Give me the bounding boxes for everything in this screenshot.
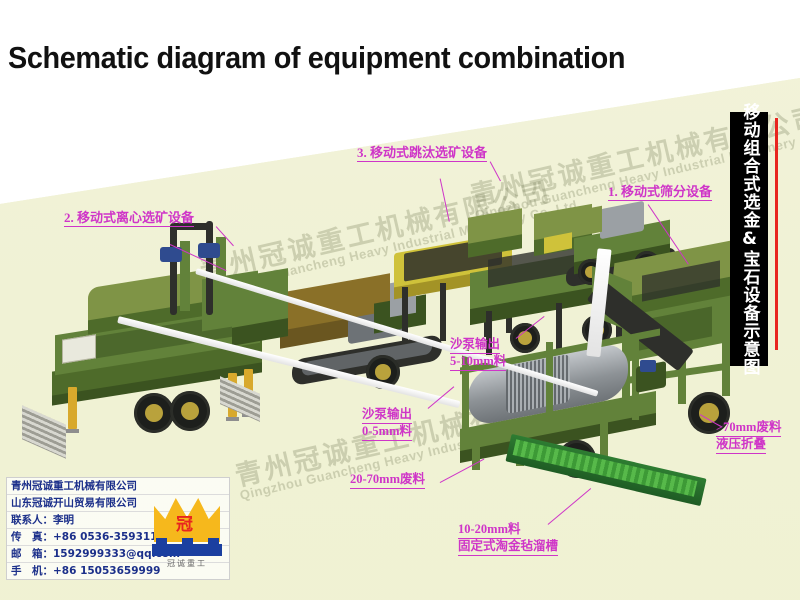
- callout-centrifugal-text: 2. 移动式离心选矿设备: [64, 210, 194, 227]
- contact-value-company-1: 青州冠诚重工机械有限公司: [11, 478, 137, 494]
- vertical-banner-text: 移动组合式选金&宝石设备示意图: [740, 103, 759, 376]
- callout-jig-text: 3. 移动式跳汰选矿设备: [357, 145, 487, 162]
- diagram-canvas: 青州冠诚重工机械有限公司 Qingzhou Guancheng Heavy In…: [0, 0, 800, 600]
- company-logo: 冠 冠诚重工: [148, 498, 226, 572]
- logo-base-bar: [152, 544, 222, 556]
- contact-label-person: 联系人: [11, 512, 43, 528]
- callout-screening: 1. 移动式筛分设备: [608, 184, 712, 201]
- callout-sand-pump-5-10-line1: 沙泵输出: [450, 337, 500, 354]
- logo-letter: 冠: [176, 510, 193, 535]
- callout-screening-text: 1. 移动式筛分设备: [608, 184, 712, 201]
- callout-sluice-10-20-line1: 10-20mm料: [458, 522, 521, 539]
- banner-red-accent-line: [775, 118, 778, 350]
- callout-waste-20-70-text: 20-70mm废料: [350, 472, 425, 489]
- callout-sluice-10-20-line2: 固定式淘金毡溜槽: [458, 539, 558, 556]
- callout-waste-70-plus-line2: 液压折叠: [716, 437, 766, 454]
- callout-sand-pump-0-5-line2: 0-5mm料: [362, 424, 412, 441]
- logo-caption: 冠诚重工: [152, 558, 222, 569]
- callout-centrifugal: 2. 移动式离心选矿设备: [64, 210, 194, 227]
- wheel: [134, 393, 174, 433]
- callout-sand-pump-5-10-line2: 5-10mm料: [450, 354, 506, 371]
- contact-value-company-2: 山东冠诚开山贸易有限公司: [11, 495, 137, 511]
- callout-jig: 3. 移动式跳汰选矿设备: [357, 145, 487, 162]
- page-title: Schematic diagram of equipment combinati…: [8, 40, 625, 76]
- contact-row-company-1: 青州冠诚重工机械有限公司: [7, 478, 229, 495]
- contact-label-email: 邮 箱: [11, 546, 43, 562]
- callout-sand-pump-0-5-line1: 沙泵输出: [362, 407, 412, 424]
- vertical-banner: 移动组合式选金&宝石设备示意图: [730, 112, 768, 366]
- wheel: [170, 391, 210, 431]
- callout-sluice-10-20: 10-20mm料 固定式淘金毡溜槽: [458, 522, 558, 556]
- contact-label-mobile: 手 机: [11, 563, 43, 579]
- contact-value-mobile: ：+86 15053659999: [43, 565, 161, 577]
- callout-waste-70-plus: >70mm废料 液压折叠: [716, 420, 781, 454]
- callout-waste-20-70: 20-70mm废料: [350, 472, 425, 489]
- contact-value-person: ：李明: [43, 514, 75, 526]
- contact-label-fax: 传 真: [11, 529, 43, 545]
- callout-waste-70-plus-line1: >70mm废料: [716, 420, 781, 437]
- hydraulic-leg: [68, 387, 77, 429]
- callout-sand-pump-0-5: 沙泵输出 0-5mm料: [362, 407, 412, 441]
- contact-value-fax: ：+86 0536-3593111: [43, 531, 165, 543]
- callout-sand-pump-5-10: 沙泵输出 5-10mm料: [450, 337, 506, 371]
